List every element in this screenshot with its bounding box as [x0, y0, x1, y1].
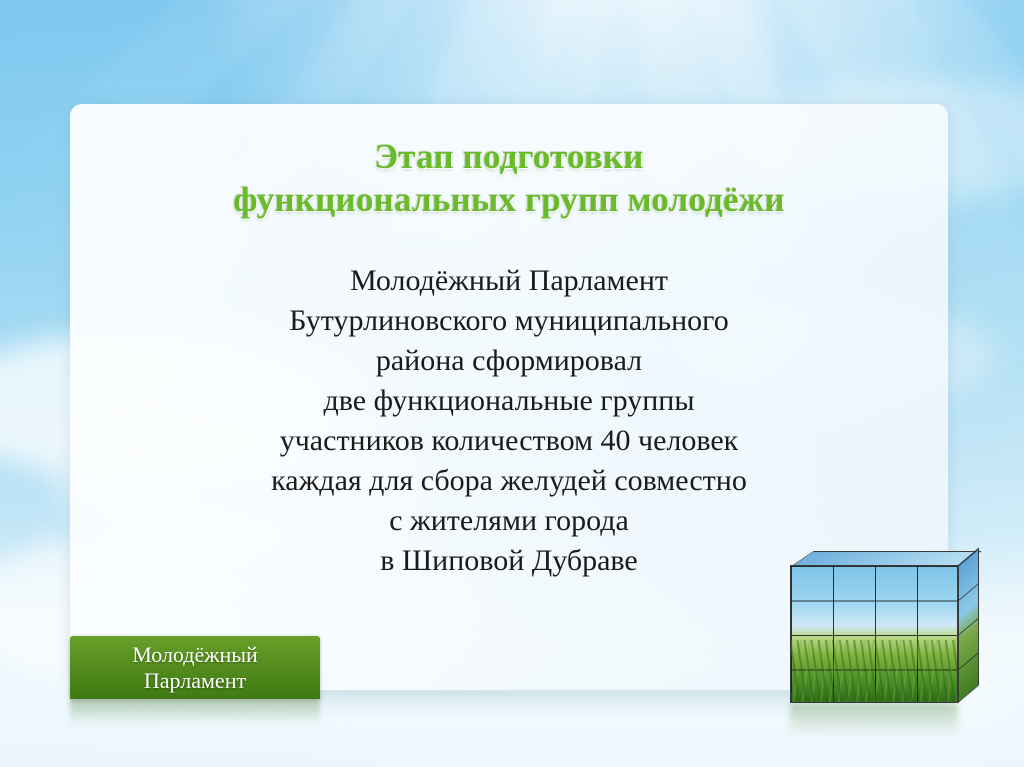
cube-side-face	[958, 547, 979, 703]
body-line: с жителями города	[126, 501, 892, 541]
slide-title-line-2: функциональных групп молодёжи	[126, 179, 892, 222]
body-line: две функциональные группы	[126, 381, 892, 421]
body-line: Молодёжный Парламент	[126, 261, 892, 301]
grass-sky-cube-image	[790, 551, 980, 703]
slide-title-line-1: Этап подготовки	[374, 137, 643, 176]
body-line: района сформировал	[126, 341, 892, 381]
slide-title: Этап подготовки функциональных групп мол…	[126, 136, 892, 221]
body-line: участников количеством 40 человек	[126, 421, 892, 461]
presentation-slide: Этап подготовки функциональных групп мол…	[0, 0, 1024, 767]
body-line: Бутурлиновского муниципального	[126, 301, 892, 341]
body-line: каждая для сбора желудей совместно	[126, 461, 892, 501]
cube-front-face	[790, 565, 958, 703]
cube-reflection	[790, 703, 958, 737]
green-tab-reflection	[70, 699, 320, 725]
slide-body: Молодёжный Парламент Бутурлиновского мун…	[126, 261, 892, 580]
green-tab-line-1: Молодёжный	[132, 642, 258, 668]
green-tab-label: Молодёжный Парламент	[70, 636, 320, 699]
green-tab-line-2: Парламент	[132, 668, 258, 694]
body-line: в Шиповой Дубраве	[126, 541, 892, 581]
